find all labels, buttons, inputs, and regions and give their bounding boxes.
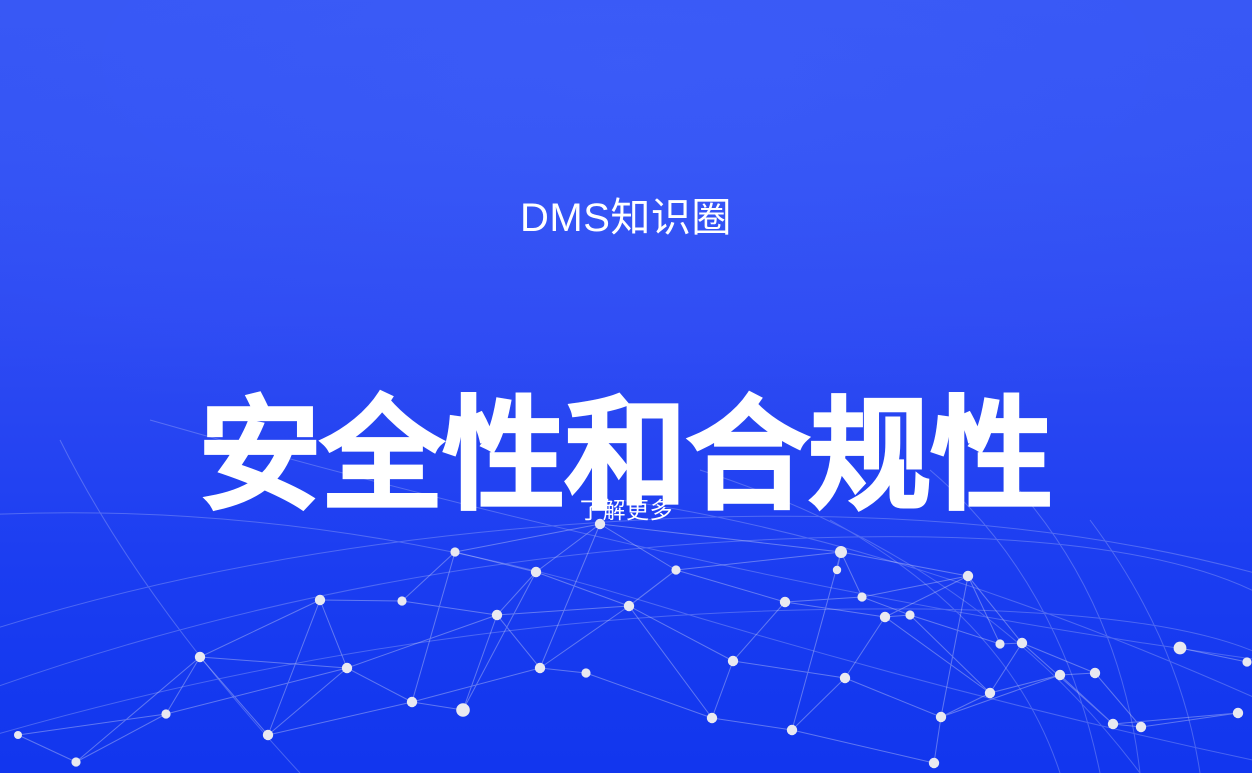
slide-subtitle-learn-more[interactable]: 了解更多 xyxy=(0,499,1252,522)
slide-content: DMS知识圈 安全性和合规性 了解更多 xyxy=(0,0,1252,773)
slide-eyebrow: DMS知识圈 xyxy=(0,198,1252,238)
presentation-slide: DMS知识圈 安全性和合规性 了解更多 xyxy=(0,0,1252,773)
